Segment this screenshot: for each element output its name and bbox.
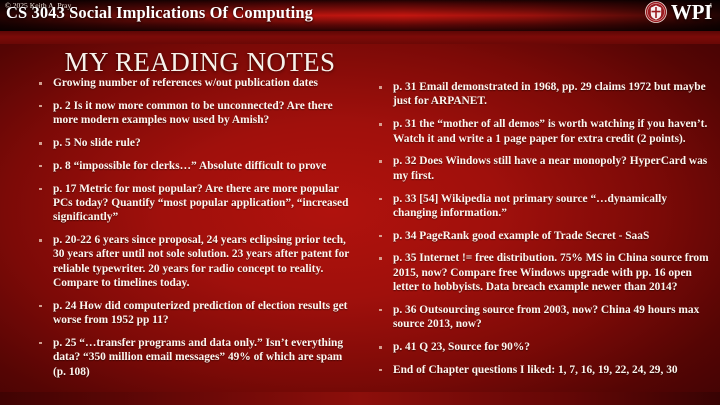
list-item: p. 17 Metric for most popular? Are there… <box>34 182 354 225</box>
slide-title: MY READING NOTES <box>0 47 400 78</box>
slide-footer <box>0 392 720 405</box>
list-item: p. 25 “…transfer programs and data only.… <box>34 336 354 379</box>
list-item: p. 2 Is it now more common to be unconne… <box>34 99 354 128</box>
list-item: End of Chapter questions I liked: 1, 7, … <box>374 363 710 377</box>
wpi-seal-icon <box>645 1 667 23</box>
list-item: p. 8 “impossible for clerks…” Absolute d… <box>34 159 354 173</box>
list-item: p. 41 Q 23, Source for 90%? <box>374 340 710 354</box>
list-item: p. 31 the “mother of all demos” is worth… <box>374 117 710 146</box>
right-column: p. 28 Compare cloud to client/server, ma… <box>366 76 720 388</box>
left-bullet-list: Growing number of references w/out publi… <box>34 76 354 388</box>
list-item: p. 35 Internet != free distribution. 75%… <box>374 251 710 294</box>
list-item: p. 26 TCP/IP invented → Internet 9 years <box>34 387 354 388</box>
list-item: p. 34 PageRank good example of Trade Sec… <box>374 229 710 243</box>
list-item: p. 31 Email demonstrated in 1968, pp. 29… <box>374 80 710 109</box>
slide: CS 3043 Social Implications Of Computing… <box>0 0 720 405</box>
list-item: p. 5 No slide rule? <box>34 136 354 150</box>
list-item: p. 24 How did computerized prediction of… <box>34 299 354 328</box>
wpi-logo-text: WPI <box>671 2 712 23</box>
content-columns: Growing number of references w/out publi… <box>0 76 720 388</box>
header-lower-band <box>0 31 720 44</box>
right-bullet-list: p. 28 Compare cloud to client/server, ma… <box>374 76 710 377</box>
list-item: p. 32 Does Windows still have a near mon… <box>374 154 710 183</box>
course-title: CS 3043 Social Implications Of Computing <box>6 3 313 23</box>
list-item: p. 33 [54] Wikipedia not primary source … <box>374 192 710 221</box>
wpi-logo: WPI <box>645 1 712 23</box>
left-column: Growing number of references w/out publi… <box>0 76 366 388</box>
list-item: p. 20-22 6 years since proposal, 24 year… <box>34 233 354 290</box>
list-item: Growing number of references w/out publi… <box>34 76 354 90</box>
list-item: p. 36 Outsourcing source from 2003, now?… <box>374 303 710 332</box>
